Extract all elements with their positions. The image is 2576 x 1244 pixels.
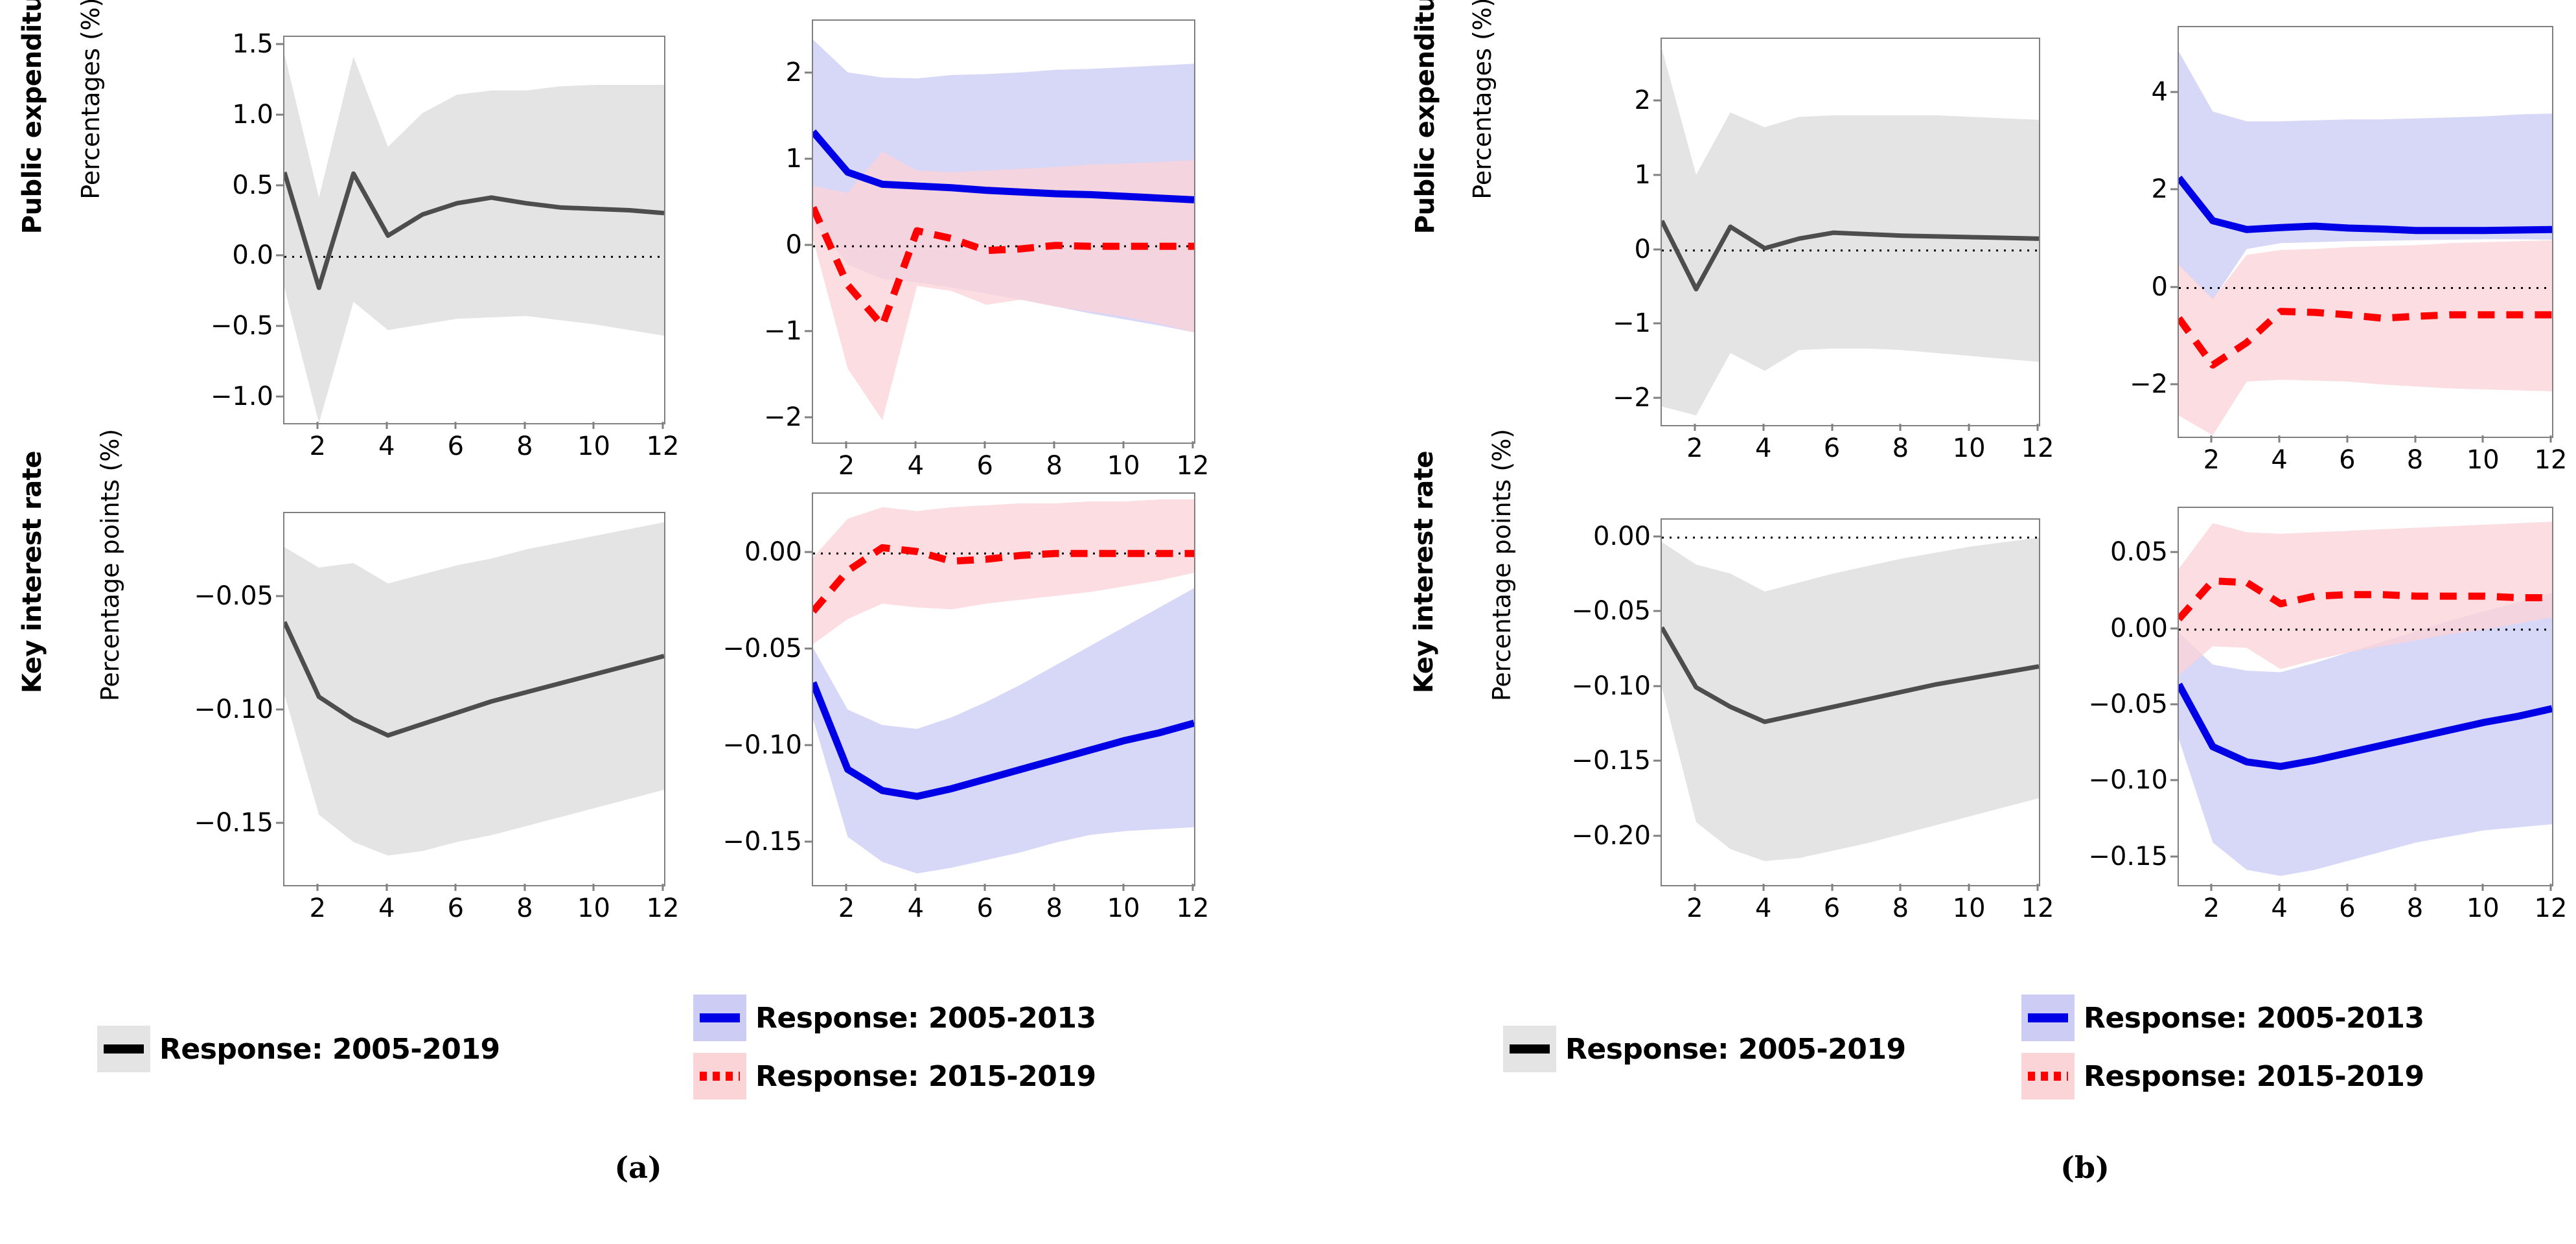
plot-canvas (813, 21, 1194, 443)
x-tick-mark (1831, 424, 1833, 431)
x-tick-mark (845, 884, 847, 891)
x-tick-label: 4 (908, 453, 924, 479)
y-tick-mark (2170, 855, 2178, 857)
x-tick-mark (662, 884, 664, 891)
plot-a-public-expenditure-split[interactable] (812, 19, 1195, 444)
y-tick-label: 1 (663, 146, 802, 172)
x-tick-mark (2414, 435, 2416, 443)
x-tick-label: 6 (448, 433, 464, 459)
x-tick-label: 12 (1177, 453, 1210, 479)
y-tick-label: −0.10 (663, 732, 802, 758)
x-tick-label: 4 (1755, 435, 1771, 461)
x-tick-mark (1192, 441, 1194, 448)
y-tick-label: −0.10 (1512, 673, 1651, 699)
y-tick-mark (805, 158, 812, 160)
x-tick-label: 2 (310, 433, 326, 459)
x-tick-mark (1123, 441, 1125, 448)
legend-label-2005-2013: Response: 2005-2013 (755, 1002, 1096, 1035)
legend-item-red[interactable]: Response: 2015-2019 (693, 1053, 1096, 1100)
legend-swatch-gray-b (1503, 1026, 1556, 1072)
y-tick-mark (276, 43, 283, 45)
x-tick-label: 8 (516, 433, 533, 459)
row-label-public-expenditure-b: Public expenditure (1410, 0, 1440, 261)
x-tick-label: 6 (977, 453, 993, 479)
x-tick-label: 12 (2021, 895, 2054, 921)
x-tick-label: 10 (1953, 435, 1986, 461)
y-tick-mark (1653, 323, 1661, 325)
y-tick-mark (276, 822, 283, 824)
x-tick-label: 12 (1177, 895, 1210, 921)
x-tick-label: 8 (1046, 895, 1062, 921)
y-tick-mark (276, 595, 283, 597)
plot-canvas (284, 513, 664, 885)
x-tick-mark (2414, 884, 2416, 891)
x-tick-mark (523, 884, 525, 891)
y-tick-label: −0.05 (1512, 598, 1651, 624)
x-tick-label: 2 (310, 895, 326, 921)
x-tick-mark (2482, 435, 2484, 443)
x-tick-mark (1694, 884, 1696, 891)
x-tick-label: 4 (2271, 895, 2287, 921)
legend-a: Response: 2005-2019 Response: 2005-2013 … (84, 995, 1250, 1111)
row-label-public-expenditure: Public expenditure (17, 0, 47, 261)
x-tick-label: 4 (1755, 895, 1771, 921)
x-tick-mark (1053, 441, 1055, 448)
x-tick-mark (915, 441, 917, 448)
plot-canvas (1662, 39, 2039, 425)
x-tick-mark (984, 441, 986, 448)
legend-b: Response: 2005-2019 Response: 2005-2013 … (1490, 995, 2576, 1111)
y-tick-label: −0.05 (663, 636, 802, 662)
x-tick-mark (1762, 424, 1764, 431)
legend-swatch-gray (97, 1026, 150, 1072)
y-tick-mark (805, 551, 812, 553)
y-tick-mark (1653, 397, 1661, 398)
x-tick-label: 8 (1892, 895, 1909, 921)
plot-a-key-interest-rate-split[interactable] (812, 492, 1195, 886)
row-label-key-interest-rate: Key interest rate (17, 423, 47, 721)
y-tick-mark (276, 184, 283, 186)
row-label-key-interest-rate-b: Key interest rate (1409, 423, 1439, 721)
y-tick-mark (276, 325, 283, 327)
plot-canvas (2179, 508, 2552, 885)
x-tick-label: 4 (2271, 447, 2287, 473)
plot-b-public-expenditure-split[interactable] (2178, 26, 2553, 438)
plot-canvas (2179, 27, 2552, 437)
plot-a-key-interest-rate-full[interactable] (283, 512, 665, 886)
x-tick-mark (1053, 884, 1055, 891)
y-tick-mark (2170, 779, 2178, 781)
legend-line-blue-b (2028, 1013, 2068, 1022)
x-tick-label: 10 (1107, 453, 1140, 479)
x-tick-mark (1900, 884, 1902, 891)
y-tick-mark (276, 255, 283, 257)
x-tick-mark (593, 884, 595, 891)
subfigure-a: Public expenditure Percentages (%) Key i… (0, 0, 1288, 1244)
plot-b-key-interest-rate-full[interactable] (1661, 518, 2040, 886)
x-tick-mark (1831, 884, 1833, 891)
x-tick-mark (2550, 435, 2552, 443)
y-tick-label: 0 (1512, 236, 1651, 262)
y-tick-label: −1.0 (134, 384, 273, 409)
x-tick-mark (984, 884, 986, 891)
x-tick-mark (523, 422, 525, 429)
x-tick-mark (1762, 884, 1764, 891)
x-tick-mark (385, 422, 387, 429)
x-tick-mark (845, 441, 847, 448)
y-tick-label: −0.15 (1512, 748, 1651, 774)
y-tick-mark (276, 708, 283, 710)
y-tick-label: 1.0 (134, 102, 273, 128)
y-tick-label: 0.05 (2029, 539, 2168, 565)
y-tick-label: 1 (1512, 162, 1651, 188)
x-tick-mark (2279, 435, 2281, 443)
x-tick-mark (1968, 884, 1970, 891)
x-tick-mark (455, 884, 457, 891)
y-tick-label: −0.10 (134, 697, 273, 722)
x-tick-label: 4 (378, 895, 395, 921)
x-tick-label: 8 (2407, 447, 2423, 473)
subcaption-a: (a) (614, 1150, 661, 1185)
legend-line-black (104, 1044, 144, 1054)
legend-label-2015-2019: Response: 2015-2019 (755, 1060, 1096, 1093)
x-tick-mark (2346, 884, 2348, 891)
y-tick-label: −1 (663, 318, 802, 344)
y-tick-mark (805, 416, 812, 418)
y-tick-label: −2 (663, 404, 802, 430)
confidence-band (284, 522, 664, 856)
y-tick-label: 2 (1512, 87, 1651, 113)
x-tick-label: 6 (977, 895, 993, 921)
y-tick-label: −0.05 (2029, 691, 2168, 717)
plot-a-public-expenditure-full[interactable] (283, 36, 665, 424)
legend-line-red-b (2028, 1072, 2068, 1081)
x-tick-mark (1123, 884, 1125, 891)
y-tick-label: 2 (663, 60, 802, 86)
y-tick-label: 1.5 (134, 31, 273, 57)
legend-item-red-b[interactable]: Response: 2015-2019 (2021, 1053, 2424, 1100)
y-tick-label: −2 (1512, 385, 1651, 411)
y-tick-label: 0.0 (134, 242, 273, 268)
x-tick-mark (1192, 884, 1194, 891)
y-tick-label: 0.00 (663, 539, 802, 565)
legend-swatch-red (693, 1053, 746, 1100)
x-tick-mark (1968, 424, 1970, 431)
y-tick-mark (2170, 286, 2178, 288)
legend-label-2005-2013-b: Response: 2005-2013 (2084, 1002, 2424, 1035)
x-tick-label: 8 (1046, 453, 1062, 479)
legend-label-2005-2019: Response: 2005-2019 (159, 1033, 500, 1066)
x-tick-mark (2279, 884, 2281, 891)
x-tick-label: 6 (2339, 447, 2355, 473)
legend-label-2005-2019-b: Response: 2005-2019 (1565, 1033, 1906, 1066)
y-tick-label: −1 (1512, 310, 1651, 336)
legend-swatch-blue (693, 995, 746, 1041)
legend-item-gray-b[interactable]: Response: 2005-2019 (1503, 1026, 1906, 1072)
x-tick-mark (2482, 884, 2484, 891)
confidence-band (284, 54, 664, 423)
x-tick-label: 12 (647, 433, 680, 459)
x-tick-label: 10 (577, 895, 610, 921)
legend-swatch-blue-b (2021, 995, 2075, 1041)
x-tick-mark (593, 422, 595, 429)
x-tick-label: 8 (516, 895, 533, 921)
y-tick-mark (1653, 835, 1661, 837)
y-tick-label: −0.5 (134, 313, 273, 339)
confidence-band (2179, 240, 2552, 435)
y-tick-mark (805, 72, 812, 74)
x-tick-label: 12 (2535, 447, 2568, 473)
x-tick-label: 6 (2339, 895, 2355, 921)
x-tick-mark (915, 884, 917, 891)
x-tick-label: 10 (2467, 895, 2500, 921)
y-tick-label: 0.5 (134, 172, 273, 198)
legend-label-2015-2019-b: Response: 2015-2019 (2084, 1060, 2424, 1093)
legend-line-red (700, 1072, 740, 1081)
x-tick-label: 10 (1107, 895, 1140, 921)
legend-item-blue[interactable]: Response: 2005-2013 (693, 995, 1096, 1041)
x-tick-label: 10 (1953, 895, 1986, 921)
y-tick-mark (276, 113, 283, 115)
legend-item-gray[interactable]: Response: 2005-2019 (97, 1026, 500, 1072)
x-tick-mark (2037, 424, 2039, 431)
plot-b-public-expenditure-full[interactable] (1661, 38, 2040, 426)
y-tick-mark (1653, 685, 1661, 687)
y-tick-label: −0.05 (134, 583, 273, 609)
x-tick-label: 8 (1892, 435, 1909, 461)
y-tick-mark (2170, 627, 2178, 629)
y-axis-label-percentages-b: Percentages (%) (1468, 0, 1497, 260)
x-tick-label: 2 (838, 895, 855, 921)
x-tick-mark (317, 422, 319, 429)
plot-b-key-interest-rate-split[interactable] (2178, 507, 2553, 886)
y-tick-mark (1653, 535, 1661, 537)
y-tick-label: −0.15 (134, 810, 273, 836)
y-tick-mark (2170, 551, 2178, 553)
x-tick-label: 4 (378, 433, 395, 459)
y-tick-label: −0.10 (2029, 767, 2168, 793)
y-tick-label: 2 (2029, 176, 2168, 202)
y-tick-mark (805, 744, 812, 746)
x-tick-mark (1900, 424, 1902, 431)
y-tick-label: −0.15 (2029, 844, 2168, 870)
x-tick-label: 12 (2021, 435, 2054, 461)
x-tick-mark (2550, 884, 2552, 891)
x-tick-label: 8 (2407, 895, 2423, 921)
y-tick-mark (805, 330, 812, 332)
plot-canvas (284, 37, 664, 423)
figure-canvas: Public expenditure Percentages (%) Key i… (0, 0, 2576, 1244)
y-axis-label-percentages: Percentages (%) (76, 0, 105, 260)
x-tick-label: 6 (1824, 895, 1840, 921)
y-tick-mark (805, 840, 812, 842)
x-tick-label: 10 (2467, 447, 2500, 473)
y-tick-mark (2170, 704, 2178, 706)
y-tick-mark (2170, 91, 2178, 93)
subcaption-b: (b) (2060, 1150, 2110, 1185)
x-tick-label: 10 (577, 433, 610, 459)
y-tick-mark (1653, 760, 1661, 762)
plot-canvas (813, 494, 1194, 885)
y-tick-mark (1653, 248, 1661, 250)
y-tick-label: −2 (2029, 371, 2168, 397)
y-tick-label: 0.00 (2029, 616, 2168, 641)
x-tick-mark (385, 884, 387, 891)
plot-canvas (1662, 520, 2039, 885)
x-tick-label: 6 (448, 895, 464, 921)
y-tick-label: 0 (2029, 274, 2168, 300)
y-tick-mark (2170, 189, 2178, 190)
x-tick-mark (2211, 435, 2213, 443)
x-tick-mark (2346, 435, 2348, 443)
x-tick-label: 2 (838, 453, 855, 479)
y-tick-label: 0.00 (1512, 524, 1651, 549)
legend-line-black-b (1510, 1044, 1550, 1054)
legend-line-blue (700, 1013, 740, 1022)
subfigure-b: Public expenditure Percentages (%) Key i… (1288, 0, 2576, 1244)
x-tick-label: 4 (908, 895, 924, 921)
y-tick-mark (805, 648, 812, 650)
y-tick-label: 0 (663, 232, 802, 258)
x-tick-mark (455, 422, 457, 429)
x-tick-mark (2211, 884, 2213, 891)
x-tick-label: 2 (1686, 435, 1703, 461)
y-tick-mark (1653, 174, 1661, 176)
y-tick-mark (1653, 100, 1661, 102)
x-tick-mark (1694, 424, 1696, 431)
y-tick-label: −0.15 (663, 829, 802, 855)
confidence-band (813, 588, 1194, 873)
y-tick-label: −0.20 (1512, 823, 1651, 849)
y-tick-mark (1653, 610, 1661, 612)
x-tick-label: 2 (2203, 447, 2220, 473)
x-tick-label: 12 (2535, 895, 2568, 921)
legend-swatch-red-b (2021, 1053, 2075, 1100)
y-tick-mark (276, 395, 283, 397)
y-axis-label-percentage-points: Percentage points (%) (96, 403, 124, 727)
x-tick-mark (317, 884, 319, 891)
x-tick-label: 12 (647, 895, 680, 921)
legend-item-blue-b[interactable]: Response: 2005-2013 (2021, 995, 2424, 1041)
x-tick-label: 2 (1686, 895, 1703, 921)
y-tick-label: 4 (2029, 79, 2168, 105)
y-tick-mark (805, 244, 812, 246)
x-tick-label: 6 (1824, 435, 1840, 461)
x-tick-label: 2 (2203, 895, 2220, 921)
y-tick-mark (2170, 384, 2178, 386)
x-tick-mark (2037, 884, 2039, 891)
